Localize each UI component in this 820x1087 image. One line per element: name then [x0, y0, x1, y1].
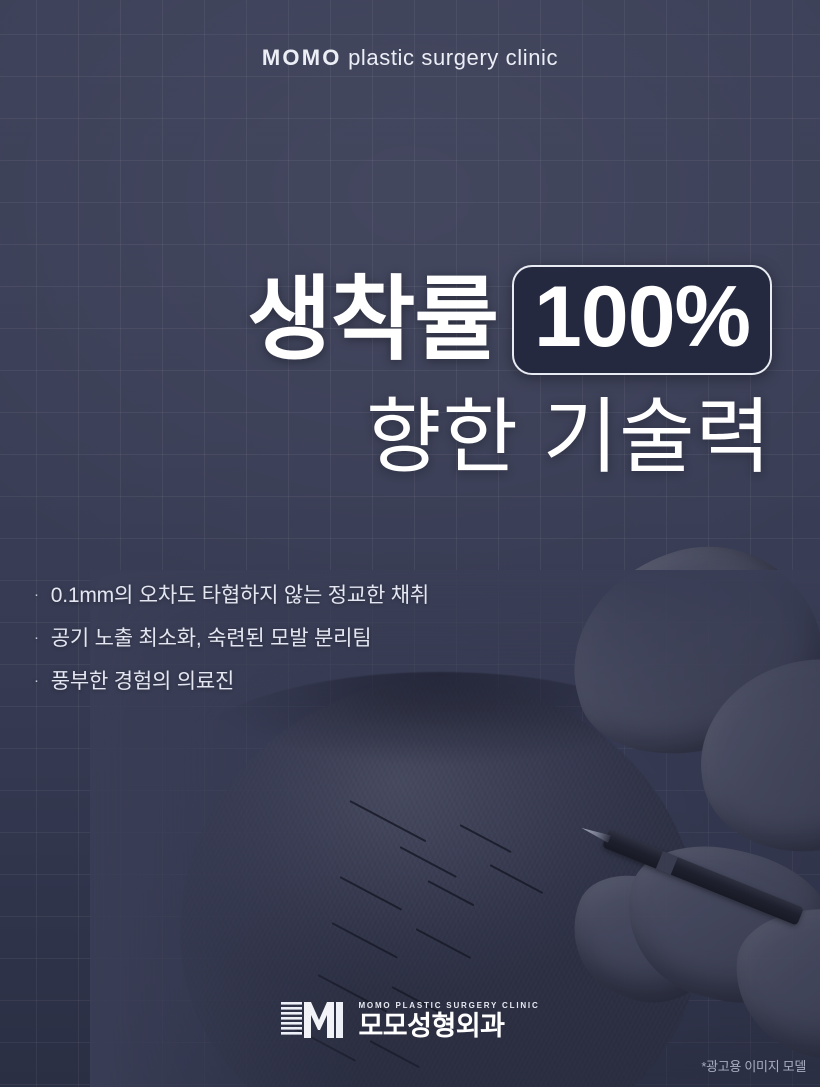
list-item: · 0.1mm의 오차도 타협하지 않는 정교한 채취 [34, 585, 429, 606]
headline-block: 생착률 100% 향한 기술력 [247, 262, 772, 484]
brand-header: MOMO plastic surgery clinic [0, 45, 820, 71]
list-item-label: 0.1mm의 오차도 타협하지 않는 정교한 채취 [51, 585, 429, 606]
brand-name-light: plastic surgery clinic [348, 45, 558, 70]
bullet-marker-icon: · [34, 630, 39, 645]
poster-canvas: MOMO plastic surgery clinic 생착률 100% 향한 … [0, 0, 820, 1087]
headline-keyword: 생착률 [247, 274, 498, 366]
disclaimer-text: *광고용 이미지 모델 [701, 1056, 806, 1075]
bullet-marker-icon: · [34, 587, 39, 602]
footer-logo: MOMO PLASTIC SURGERY CLINIC 모모성형외과 [0, 1000, 820, 1040]
momo-logo-icon [280, 1000, 344, 1040]
list-item-label: 공기 노출 최소화, 숙련된 모발 분리팀 [51, 628, 372, 649]
footer-logo-korean: 모모성형외과 [358, 1013, 539, 1040]
poster-content: MOMO plastic surgery clinic 생착률 100% 향한 … [0, 0, 820, 1087]
list-item: · 공기 노출 최소화, 숙련된 모발 분리팀 [34, 628, 429, 649]
percentage-badge: 100% [512, 265, 772, 375]
percentage-badge-value: 100% [534, 274, 750, 360]
feature-bullet-list: · 0.1mm의 오차도 타협하지 않는 정교한 채취 · 공기 노출 최소화,… [34, 585, 429, 714]
footer-logo-text: MOMO PLASTIC SURGERY CLINIC 모모성형외과 [358, 1001, 539, 1040]
footer-logo-english: MOMO PLASTIC SURGERY CLINIC [358, 1001, 539, 1010]
list-item: · 풍부한 경험의 의료진 [34, 671, 429, 692]
headline-line-2: 향한 기술력 [247, 392, 772, 484]
list-item-label: 풍부한 경험의 의료진 [51, 671, 234, 692]
brand-name-bold: MOMO [262, 45, 342, 70]
bullet-marker-icon: · [34, 673, 39, 688]
headline-line-1: 생착률 100% [247, 262, 772, 378]
